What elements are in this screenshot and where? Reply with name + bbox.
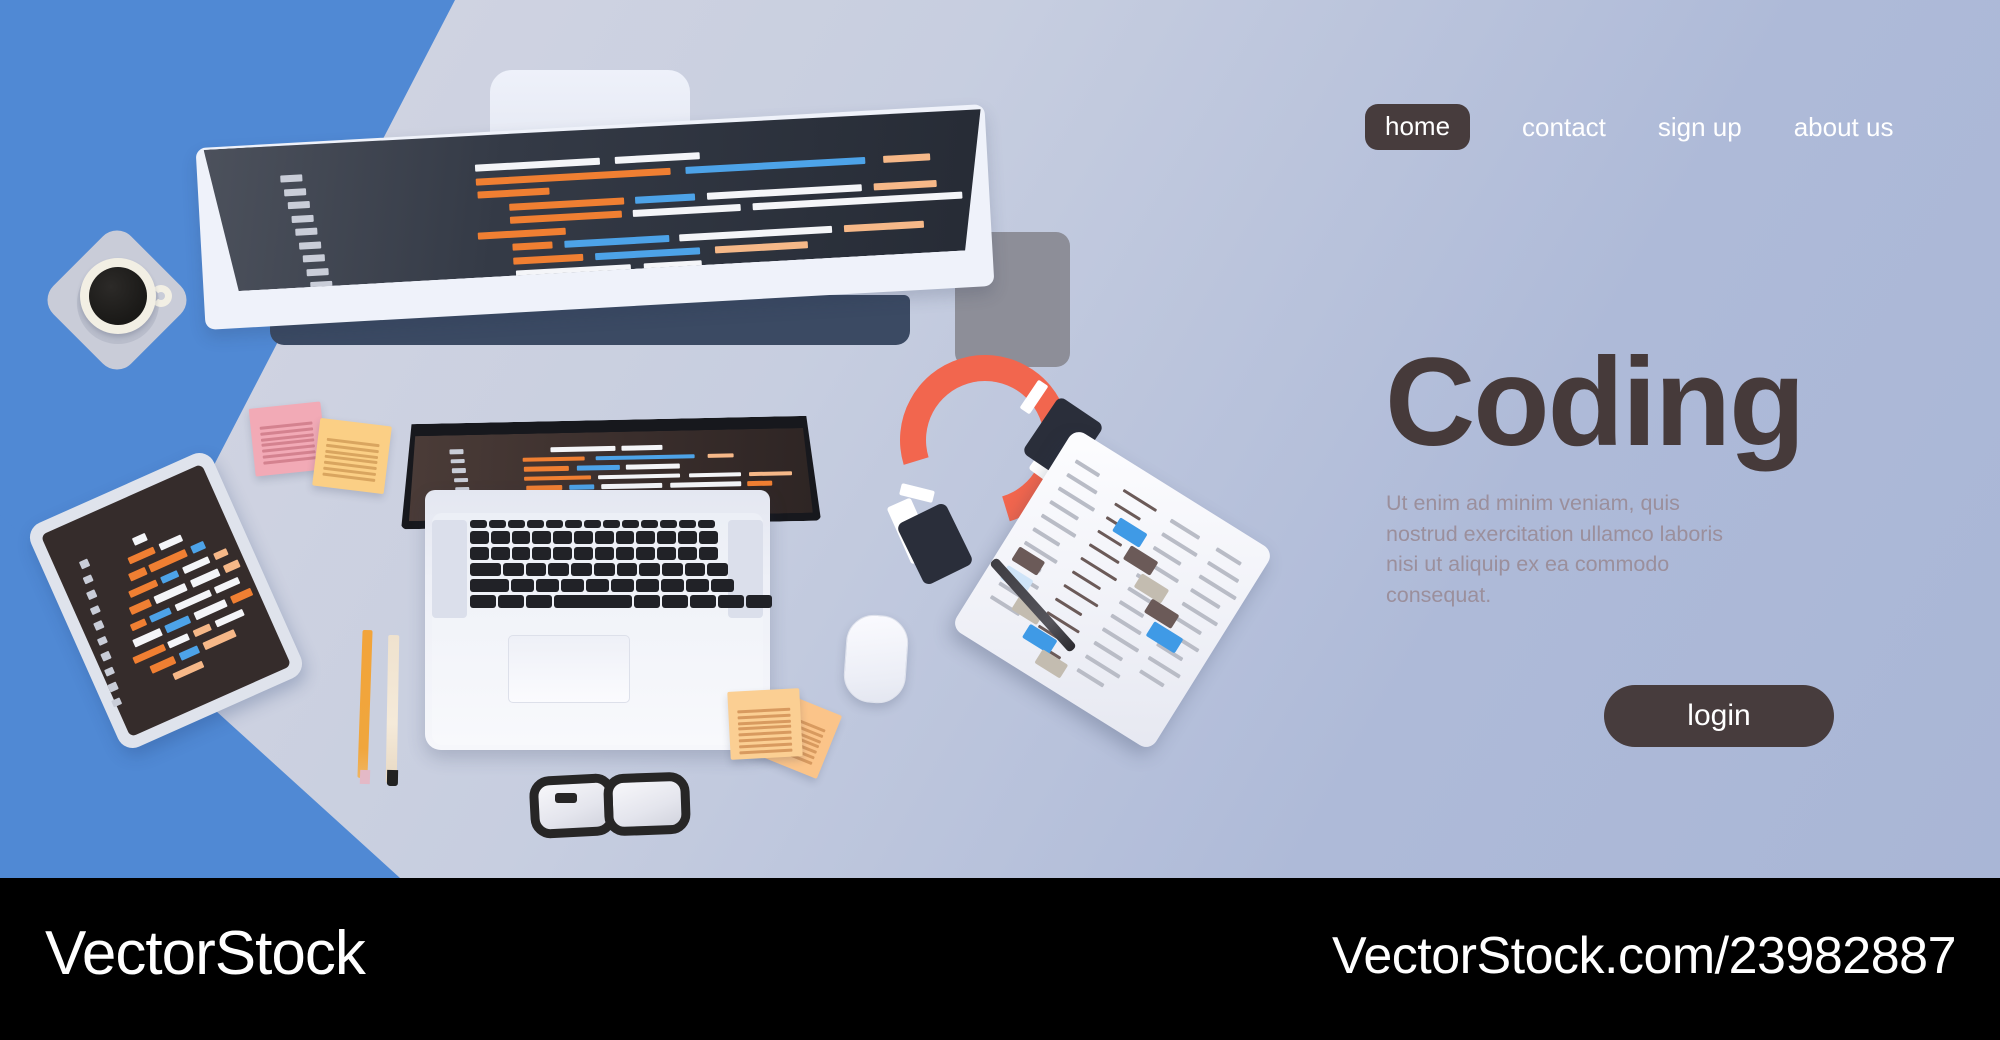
code-token xyxy=(167,633,190,649)
keyboard-key xyxy=(526,595,552,608)
code-token xyxy=(149,656,176,673)
keyboard-key xyxy=(503,563,524,576)
code-line-number xyxy=(454,477,468,482)
document-text-line xyxy=(1123,489,1158,512)
keyboard-key xyxy=(636,531,655,544)
keyboard-key xyxy=(561,579,584,592)
keyboard-key xyxy=(718,595,744,608)
keyboard-key xyxy=(641,520,658,528)
code-line-number xyxy=(295,228,317,236)
code-line-number xyxy=(280,174,302,182)
keyboard-key xyxy=(548,563,569,576)
code-token xyxy=(475,158,600,172)
code-token xyxy=(129,599,152,615)
document-text-line xyxy=(1089,543,1120,564)
code-line-number xyxy=(288,201,310,209)
code-token xyxy=(510,211,622,224)
keyboard-key xyxy=(634,595,660,608)
nav-item-sign-up[interactable]: sign up xyxy=(1658,114,1742,140)
keyboard-key xyxy=(686,579,709,592)
document-text-line xyxy=(1072,570,1102,590)
code-token xyxy=(130,618,148,631)
code-token xyxy=(874,179,937,190)
code-token xyxy=(670,481,741,487)
document-text-line xyxy=(1169,519,1200,540)
keyboard-key xyxy=(546,520,563,528)
laptop-trackpad xyxy=(508,635,630,703)
code-token xyxy=(523,456,585,462)
keyboard-key xyxy=(594,563,615,576)
keyboard-key xyxy=(698,520,715,528)
laptop-speaker-left xyxy=(432,520,467,618)
code-token xyxy=(598,473,680,479)
code-line-number xyxy=(284,188,306,196)
code-token xyxy=(164,615,191,632)
code-token xyxy=(551,446,616,452)
note-text-line xyxy=(737,708,790,714)
keyboard-key xyxy=(470,595,496,608)
main-navigation[interactable]: home contact sign up about us xyxy=(1365,104,1893,150)
document-text-line xyxy=(1032,527,1060,547)
keyboard-key xyxy=(657,531,676,544)
code-line-number xyxy=(86,589,97,600)
code-token xyxy=(749,471,792,476)
code-token xyxy=(128,567,147,581)
code-line-number xyxy=(306,268,328,276)
keyboard-key xyxy=(470,531,489,544)
keyboard-key xyxy=(662,595,688,608)
document-text-line xyxy=(1139,669,1165,687)
keyboard-key xyxy=(470,520,487,528)
code-token xyxy=(172,660,204,680)
code-line-number xyxy=(93,620,104,631)
keyboard-key xyxy=(616,547,635,560)
code-token xyxy=(524,475,591,481)
code-token xyxy=(509,197,624,210)
watermark-url: VectorStock.com/23982887 xyxy=(1332,926,1956,986)
code-token xyxy=(230,588,253,604)
document-text-line xyxy=(1119,600,1145,618)
login-button[interactable]: login xyxy=(1604,685,1834,747)
document-text-line xyxy=(1066,473,1098,495)
code-line-number xyxy=(90,605,101,616)
code-token xyxy=(213,548,229,561)
nav-item-contact[interactable]: contact xyxy=(1522,114,1606,140)
keyboard-key xyxy=(616,531,635,544)
keyboard-key xyxy=(636,547,655,560)
keyboard-key xyxy=(565,520,582,528)
keyboard-key xyxy=(746,595,772,608)
code-token xyxy=(635,193,695,203)
keyboard-key xyxy=(679,520,696,528)
keyboard-key xyxy=(508,520,525,528)
code-token xyxy=(132,533,148,546)
note-text-line xyxy=(737,719,790,725)
code-line-number xyxy=(451,459,465,464)
document-text-line xyxy=(1074,459,1100,477)
code-token xyxy=(621,445,662,450)
keyboard-key xyxy=(661,579,684,592)
document-text-line xyxy=(1076,668,1104,688)
document-text-line xyxy=(1114,502,1141,520)
code-token xyxy=(160,570,179,584)
watermark-footer: VectorStock VectorStock.com/23982887 xyxy=(0,878,2000,1040)
code-line-number xyxy=(97,635,108,646)
keyboard-key xyxy=(586,579,609,592)
code-token xyxy=(158,534,183,551)
keyboard-key xyxy=(532,547,551,560)
document-text-line xyxy=(1049,500,1079,521)
code-line-number xyxy=(291,214,313,222)
code-token xyxy=(596,454,695,461)
nav-item-home[interactable]: home xyxy=(1365,104,1470,150)
code-line-number xyxy=(100,651,111,662)
keyboard-key xyxy=(470,579,509,592)
code-line-number xyxy=(111,697,122,708)
code-token xyxy=(679,226,832,242)
keyboard-key xyxy=(491,531,510,544)
keyboard-key xyxy=(595,547,614,560)
keyboard-key xyxy=(711,579,734,592)
code-token xyxy=(182,556,211,574)
code-token xyxy=(577,465,620,470)
document-text-line xyxy=(1215,547,1242,566)
document-highlight xyxy=(1144,598,1180,629)
pencil-eraser xyxy=(360,770,370,784)
keyboard-key xyxy=(512,547,531,560)
keyboard-key xyxy=(498,595,524,608)
code-line-number xyxy=(299,241,321,249)
code-token xyxy=(524,466,569,471)
code-token xyxy=(883,153,930,163)
code-token xyxy=(615,152,700,164)
glasses-lens-right xyxy=(603,772,691,837)
code-token xyxy=(127,546,156,564)
note-text-line xyxy=(737,713,790,719)
keyboard-key xyxy=(532,531,551,544)
keyboard-key xyxy=(571,563,592,576)
keyboard-key xyxy=(660,520,677,528)
keyboard-key xyxy=(699,531,718,544)
code-line-number xyxy=(79,558,90,569)
code-token xyxy=(715,241,808,253)
keyboard-key xyxy=(511,579,534,592)
note-text-line xyxy=(739,748,792,754)
code-token xyxy=(149,607,172,623)
code-token xyxy=(214,576,241,593)
document-text-line xyxy=(1063,584,1099,608)
code-line-number xyxy=(107,682,118,693)
code-token xyxy=(707,184,862,200)
keyboard-key xyxy=(690,595,716,608)
keyboard-key xyxy=(657,547,676,560)
document-text-line xyxy=(1093,641,1123,662)
code-line-number xyxy=(82,574,93,585)
code-token xyxy=(179,645,200,660)
code-token xyxy=(747,481,773,486)
sticky-note-yellow xyxy=(312,418,392,494)
document-highlight xyxy=(1034,649,1068,678)
coffee-liquid xyxy=(89,267,147,325)
keyboard-key xyxy=(699,547,718,560)
illustration-canvas: home contact sign up about us Coding Ut … xyxy=(0,0,2000,1040)
keyboard-key xyxy=(707,563,728,576)
keyboard-key xyxy=(595,531,614,544)
keyboard-key xyxy=(622,520,639,528)
code-line-number xyxy=(452,468,466,473)
keyboard-key xyxy=(639,563,660,576)
code-token xyxy=(689,472,741,478)
keyboard-key xyxy=(603,520,620,528)
sticky-note-orange-front xyxy=(727,688,802,760)
keyboard-key xyxy=(584,520,601,528)
keyboard-key xyxy=(574,547,593,560)
keyboard-key xyxy=(678,547,697,560)
code-token xyxy=(192,623,211,637)
code-token xyxy=(477,188,549,199)
code-token xyxy=(569,484,595,489)
code-token xyxy=(564,235,669,248)
code-token xyxy=(223,559,241,572)
keyboard-key xyxy=(553,547,572,560)
code-line-number xyxy=(303,254,325,262)
code-token xyxy=(633,204,741,217)
code-token xyxy=(128,579,158,598)
code-token xyxy=(512,242,552,251)
code-token xyxy=(513,253,583,264)
computer-mouse xyxy=(842,613,910,705)
keyboard-key xyxy=(489,520,506,528)
keyboard-key xyxy=(554,595,632,608)
code-line-number xyxy=(104,666,115,677)
note-text-line xyxy=(739,742,792,748)
hero-description: Ut enim ad minim veniam, quis nostrud ex… xyxy=(1386,488,1731,610)
keyboard-key xyxy=(491,547,510,560)
keyboard-key xyxy=(617,563,638,576)
keyboard-key xyxy=(574,531,593,544)
keyboard-key xyxy=(470,563,501,576)
keyboard-key xyxy=(526,563,547,576)
code-token xyxy=(595,247,700,260)
keyboard-key xyxy=(470,547,489,560)
code-line-number xyxy=(449,449,463,454)
keyboard-key xyxy=(553,531,572,544)
laptop-keyboard xyxy=(470,520,725,620)
watermark-brand: VectorStock xyxy=(45,918,365,989)
keyboard-key xyxy=(512,531,531,544)
pen-tip xyxy=(387,770,398,786)
code-token xyxy=(132,628,162,647)
keyboard-key xyxy=(527,520,544,528)
keyboard-key xyxy=(636,579,659,592)
document-text-line xyxy=(1207,561,1240,583)
code-token xyxy=(214,608,244,627)
code-token xyxy=(190,568,220,587)
code-token xyxy=(708,453,734,458)
keyboard-key xyxy=(536,579,559,592)
glasses-bridge xyxy=(555,793,577,803)
note-text-line xyxy=(738,731,791,737)
keyboard-key xyxy=(685,563,706,576)
code-token xyxy=(601,483,663,489)
page-title: Coding xyxy=(1385,340,1803,465)
code-token xyxy=(202,629,236,650)
code-token xyxy=(626,464,679,470)
note-text-line xyxy=(738,725,791,731)
keyboard-key xyxy=(662,563,683,576)
document-text-line xyxy=(1055,597,1083,616)
keyboard-key xyxy=(678,531,697,544)
document-text-line xyxy=(1190,588,1221,609)
code-token xyxy=(190,541,206,554)
code-token xyxy=(685,156,865,173)
note-text-line xyxy=(738,737,791,743)
document-text-line xyxy=(1110,614,1142,636)
keyboard-key xyxy=(611,579,634,592)
document-text-line xyxy=(1147,656,1180,679)
nav-item-about-us[interactable]: about us xyxy=(1794,114,1894,140)
code-token xyxy=(478,227,566,239)
code-token xyxy=(844,221,924,232)
